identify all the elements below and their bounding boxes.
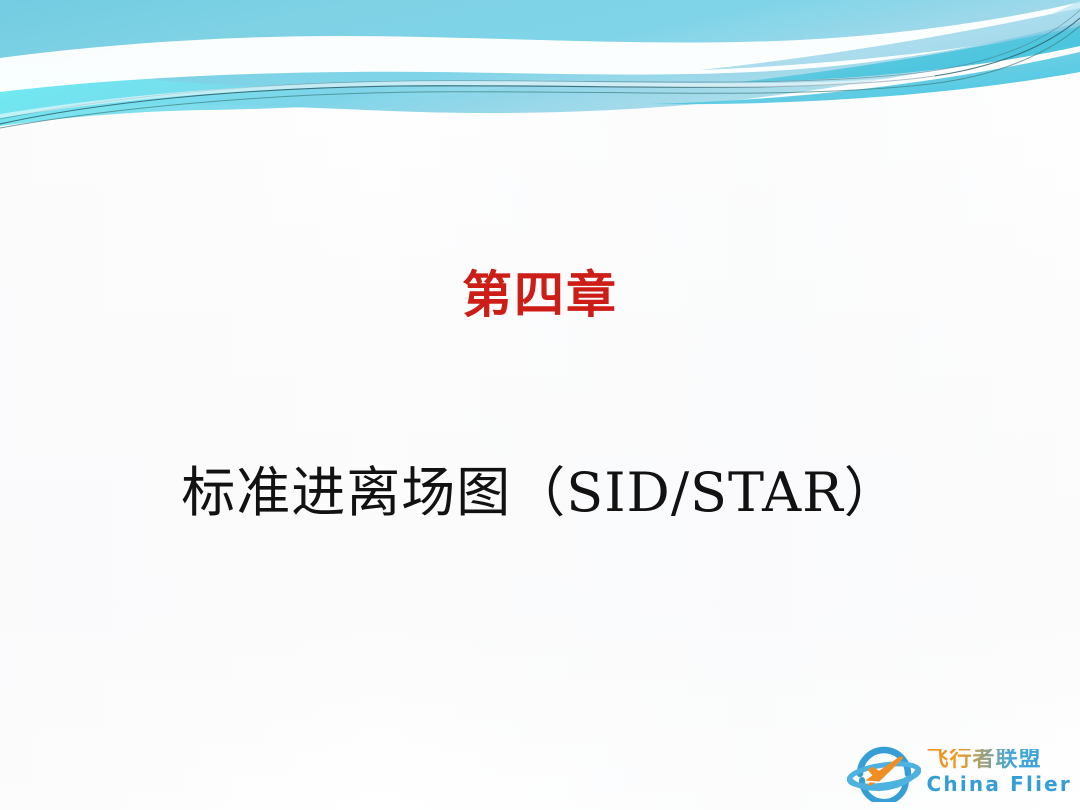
- decorative-wave-banner: [0, 0, 1080, 130]
- subtitle-block: 标准进离场图（SID/STAR）: [0, 462, 1080, 524]
- presentation-slide: 第四章 标准进离场图（SID/STAR）: [0, 0, 1080, 810]
- slide-subtitle: 标准进离场图（SID/STAR）: [0, 462, 1080, 524]
- brand-name-cn: 飞行者联盟: [927, 749, 1072, 771]
- airplane-orbit-icon: [847, 740, 921, 802]
- brand-name-en: China Flier: [927, 774, 1072, 794]
- chapter-title-block: 第四章: [0, 268, 1080, 323]
- watermark-logo: 飞行者联盟 China Flier: [847, 740, 1072, 802]
- chapter-title: 第四章: [0, 268, 1080, 323]
- watermark-text: 飞行者联盟 China Flier: [927, 749, 1072, 794]
